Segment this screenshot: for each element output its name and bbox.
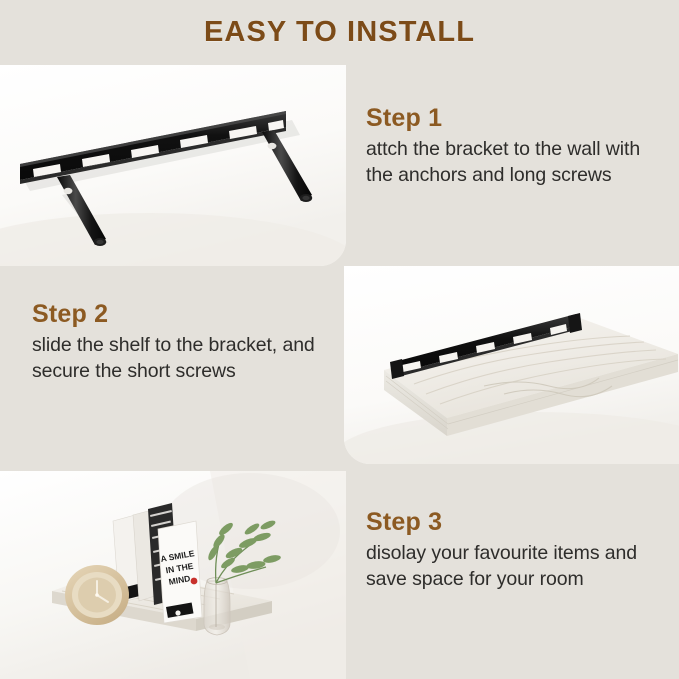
step-1-image-panel	[0, 65, 346, 266]
header-bar: EASY TO INSTALL	[0, 0, 679, 64]
step-3-body: disolay your favourite items and save sp…	[366, 541, 671, 593]
step-2-text-block: Step 2 slide the shelf to the bracket, a…	[32, 300, 332, 385]
rod-screw-right	[268, 143, 277, 149]
step-2-body: slide the shelf to the bracket, and secu…	[32, 333, 332, 385]
wall-bracket-photo	[0, 65, 346, 266]
step-2-image-panel	[344, 266, 679, 464]
step-1-heading: Step 1	[366, 104, 666, 132]
step-1-body: attch the bracket to the wall with the a…	[366, 137, 666, 189]
step-3-text-block: Step 3 disolay your favourite items and …	[366, 508, 671, 593]
book-front-smile: A SMILE IN THE MIND	[158, 521, 202, 623]
rail-tab-right	[568, 313, 582, 333]
rail-tab-left	[390, 359, 404, 379]
step-1-text-block: Step 1 attch the bracket to the wall wit…	[366, 104, 666, 189]
step-3-image-panel: A SMILE IN THE MIND	[0, 471, 346, 679]
step-3-heading: Step 3	[366, 508, 671, 536]
round-clock	[65, 565, 129, 625]
styled-shelf-photo: A SMILE IN THE MIND	[0, 471, 346, 679]
shelf-on-bracket-photo	[344, 266, 679, 464]
rod-screw-left	[64, 188, 73, 194]
page-title: EASY TO INSTALL	[204, 16, 475, 49]
step-2-heading: Step 2	[32, 300, 332, 328]
glass-vase	[204, 578, 230, 635]
book-accent-dot	[191, 578, 198, 585]
